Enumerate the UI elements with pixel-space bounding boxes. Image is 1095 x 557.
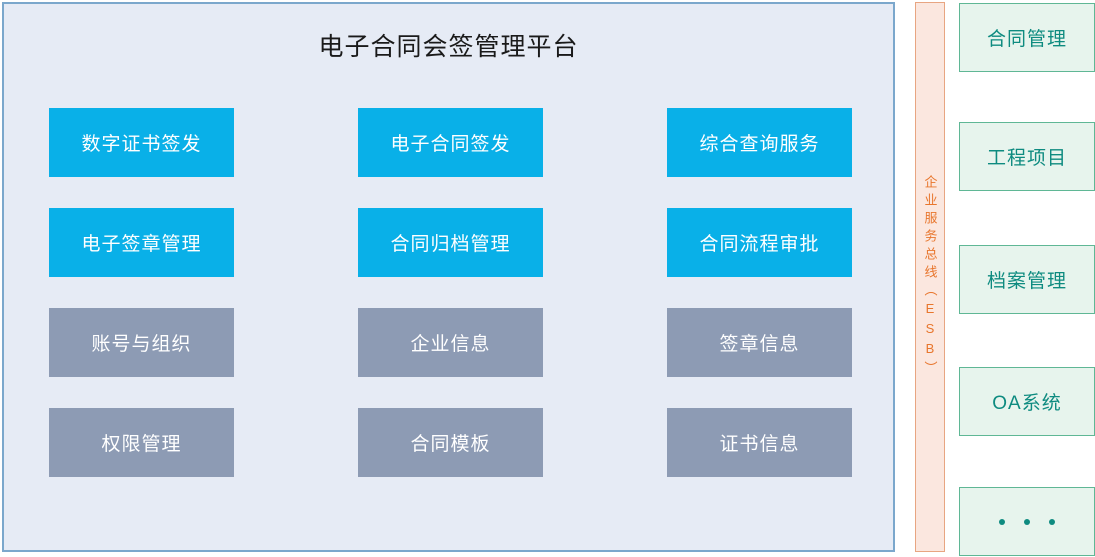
dot	[1049, 519, 1055, 525]
module-box[interactable]: 合同流程审批	[667, 208, 852, 277]
external-system-box[interactable]: 档案管理	[959, 245, 1095, 314]
external-system-box[interactable]: 工程项目	[959, 122, 1095, 191]
external-system-box[interactable]: OA系统	[959, 367, 1095, 436]
ellipsis-icon	[999, 519, 1055, 525]
module-box[interactable]: 综合查询服务	[667, 108, 852, 177]
module-box[interactable]: 电子合同签发	[358, 108, 543, 177]
module-box[interactable]: 合同归档管理	[358, 208, 543, 277]
module-box[interactable]: 证书信息	[667, 408, 852, 477]
module-box[interactable]: 企业信息	[358, 308, 543, 377]
external-system-box[interactable]: 合同管理	[959, 3, 1095, 72]
esb-bus-bar: 企业服务总线（ESB）	[915, 2, 945, 552]
esb-label: 企业服务总线（ESB）	[923, 175, 938, 379]
external-systems-column: 合同管理工程项目档案管理OA系统	[959, 0, 1095, 557]
module-box[interactable]: 合同模板	[358, 408, 543, 477]
diagram-canvas: 电子合同会签管理平台 数字证书签发电子合同签发综合查询服务电子签章管理合同归档管…	[0, 0, 1095, 557]
module-box[interactable]: 权限管理	[49, 408, 234, 477]
module-box[interactable]: 数字证书签发	[49, 108, 234, 177]
module-box[interactable]: 电子签章管理	[49, 208, 234, 277]
platform-panel: 电子合同会签管理平台 数字证书签发电子合同签发综合查询服务电子签章管理合同归档管…	[2, 2, 895, 552]
dot	[1024, 519, 1030, 525]
module-box[interactable]: 签章信息	[667, 308, 852, 377]
module-box[interactable]: 账号与组织	[49, 308, 234, 377]
dot	[999, 519, 1005, 525]
external-system-more[interactable]	[959, 487, 1095, 556]
module-grid: 数字证书签发电子合同签发综合查询服务电子签章管理合同归档管理合同流程审批账号与组…	[4, 4, 893, 550]
